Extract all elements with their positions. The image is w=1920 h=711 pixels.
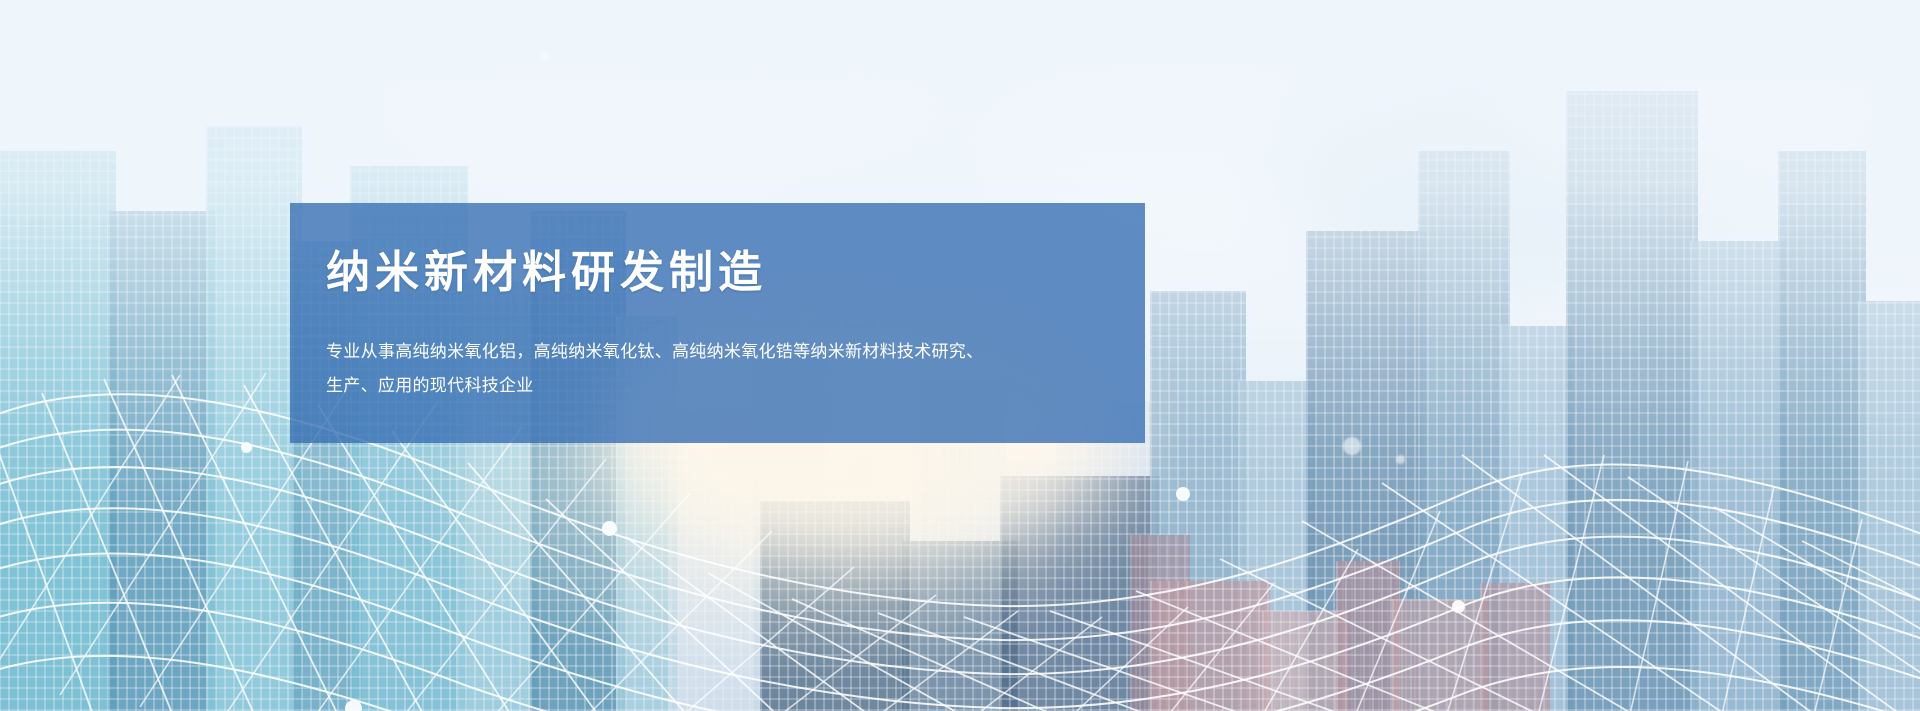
page-subtitle: 专业从事高纯纳米氧化铝，高纯纳米氧化钛、高纯纳米氧化锆等纳米新材料技术研究、 生…	[326, 335, 1109, 403]
glow-dot	[1396, 455, 1405, 464]
glow-dot	[1452, 600, 1465, 613]
glow-dot	[241, 442, 252, 453]
glow-dot	[345, 700, 362, 711]
page-title: 纳米新材料研发制造	[326, 251, 1109, 295]
hero-banner: 纳米新材料研发制造 专业从事高纯纳米氧化铝，高纯纳米氧化钛、高纯纳米氧化锆等纳米…	[0, 0, 1920, 711]
subtitle-line-2: 生产、应用的现代科技企业	[326, 369, 1109, 403]
subtitle-line-1: 专业从事高纯纳米氧化铝，高纯纳米氧化钛、高纯纳米氧化锆等纳米新材料技术研究、	[326, 335, 1109, 369]
glow-dot	[602, 521, 617, 536]
glow-dot	[1176, 487, 1190, 501]
hero-text-panel: 纳米新材料研发制造 专业从事高纯纳米氧化铝，高纯纳米氧化钛、高纯纳米氧化锆等纳米…	[290, 203, 1145, 443]
glow-dot	[1343, 437, 1361, 455]
glow-dot	[540, 52, 549, 61]
